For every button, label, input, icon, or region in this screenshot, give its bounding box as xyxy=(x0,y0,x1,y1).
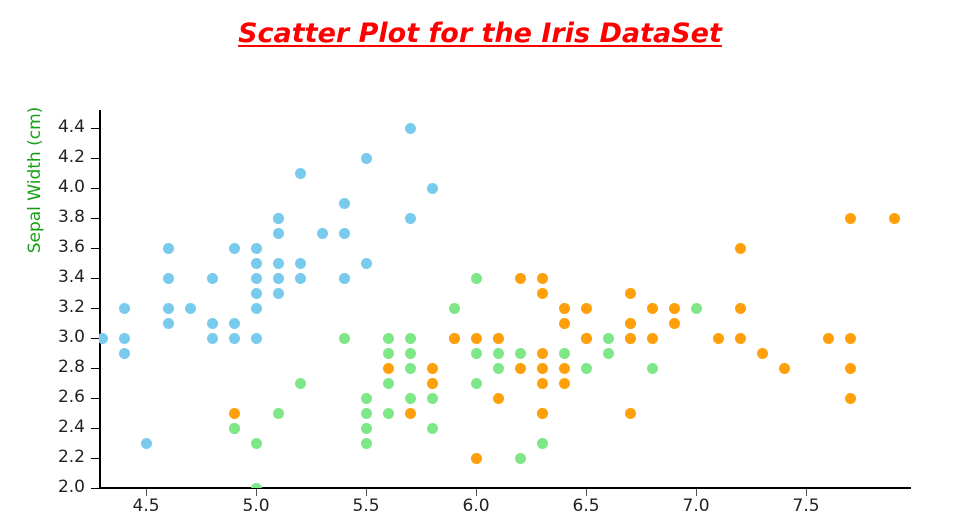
data-point-versicolor xyxy=(515,348,526,359)
data-point-virginica xyxy=(405,408,416,419)
data-point-setosa xyxy=(229,333,240,344)
y-tick-label-wrap: 4.0 xyxy=(30,177,85,197)
x-tick-mark xyxy=(146,489,147,496)
y-tick-label: 2.4 xyxy=(39,417,85,437)
y-tick-label: 4.2 xyxy=(39,147,85,167)
data-point-versicolor xyxy=(405,333,416,344)
data-point-setosa xyxy=(207,273,218,284)
data-point-virginica xyxy=(537,408,548,419)
y-tick-mark xyxy=(91,188,99,189)
data-point-setosa xyxy=(405,123,416,134)
y-tick-mark xyxy=(91,338,99,339)
data-point-virginica xyxy=(471,333,482,344)
data-point-versicolor xyxy=(427,423,438,434)
data-point-virginica xyxy=(537,273,548,284)
y-tick-label: 2.2 xyxy=(39,447,85,467)
data-point-setosa xyxy=(273,228,284,239)
y-tick-label: 4.4 xyxy=(39,117,85,137)
data-point-versicolor xyxy=(603,348,614,359)
data-point-versicolor xyxy=(581,363,592,374)
data-point-setosa xyxy=(119,348,130,359)
data-point-setosa xyxy=(361,258,372,269)
scatter-plot-figure: Scatter Plot for the Iris DataSet Sepal … xyxy=(0,0,960,500)
data-point-virginica xyxy=(823,333,834,344)
data-point-virginica xyxy=(735,303,746,314)
data-point-versicolor xyxy=(427,393,438,404)
data-point-virginica xyxy=(559,363,570,374)
data-point-virginica xyxy=(647,333,658,344)
data-point-versicolor xyxy=(493,363,504,374)
data-point-versicolor xyxy=(471,378,482,389)
y-tick-label: 3.4 xyxy=(39,267,85,287)
data-point-versicolor xyxy=(471,348,482,359)
data-point-virginica xyxy=(735,333,746,344)
data-point-setosa xyxy=(427,183,438,194)
data-point-virginica xyxy=(845,363,856,374)
data-point-setosa xyxy=(295,273,306,284)
data-point-virginica xyxy=(845,213,856,224)
data-point-virginica xyxy=(537,363,548,374)
data-point-setosa xyxy=(119,333,130,344)
y-tick-label: 2.0 xyxy=(39,477,85,497)
data-point-virginica xyxy=(515,273,526,284)
y-tick-label-wrap: 2.0 xyxy=(30,477,85,497)
data-point-virginica xyxy=(559,303,570,314)
data-point-setosa xyxy=(251,258,262,269)
x-tick-mark xyxy=(696,489,697,496)
y-tick-label-wrap: 3.0 xyxy=(30,327,85,347)
y-tick-mark xyxy=(91,218,99,219)
data-point-virginica xyxy=(229,408,240,419)
data-point-virginica xyxy=(537,288,548,299)
data-point-versicolor xyxy=(251,483,262,489)
x-tick-mark xyxy=(806,489,807,496)
y-tick-mark xyxy=(91,428,99,429)
plot-area xyxy=(99,110,911,488)
data-point-versicolor xyxy=(361,408,372,419)
data-point-setosa xyxy=(207,318,218,329)
data-point-virginica xyxy=(779,363,790,374)
data-point-versicolor xyxy=(691,303,702,314)
data-point-setosa xyxy=(273,273,284,284)
data-point-setosa xyxy=(405,213,416,224)
data-point-virginica xyxy=(559,378,570,389)
data-point-virginica xyxy=(735,243,746,254)
data-point-setosa xyxy=(163,273,174,284)
data-point-setosa xyxy=(185,303,196,314)
data-point-setosa xyxy=(229,243,240,254)
data-point-virginica xyxy=(383,363,394,374)
y-tick-label-wrap: 2.4 xyxy=(30,417,85,437)
data-point-virginica xyxy=(669,318,680,329)
y-tick-mark xyxy=(91,308,99,309)
data-point-virginica xyxy=(669,303,680,314)
y-tick-label-wrap: 3.8 xyxy=(30,207,85,227)
data-point-setosa xyxy=(251,303,262,314)
data-point-virginica xyxy=(625,288,636,299)
y-tick-label: 2.6 xyxy=(39,387,85,407)
data-point-setosa xyxy=(251,333,262,344)
data-point-virginica xyxy=(427,363,438,374)
data-point-versicolor xyxy=(537,438,548,449)
data-point-setosa xyxy=(141,438,152,449)
y-tick-label-wrap: 4.2 xyxy=(30,147,85,167)
data-point-setosa xyxy=(339,198,350,209)
x-tick-label: 7.5 xyxy=(776,496,836,516)
data-point-setosa xyxy=(273,288,284,299)
y-tick-mark xyxy=(91,368,99,369)
data-point-virginica xyxy=(515,363,526,374)
x-tick-mark xyxy=(476,489,477,496)
data-point-versicolor xyxy=(361,423,372,434)
y-tick-label: 3.8 xyxy=(39,207,85,227)
data-point-versicolor xyxy=(295,378,306,389)
y-tick-label: 3.0 xyxy=(39,327,85,347)
x-tick-label: 6.5 xyxy=(556,496,616,516)
data-point-versicolor xyxy=(405,348,416,359)
x-tick-label: 4.5 xyxy=(116,496,176,516)
y-tick-label-wrap: 2.8 xyxy=(30,357,85,377)
data-point-versicolor xyxy=(383,348,394,359)
data-point-versicolor xyxy=(559,348,570,359)
data-point-virginica xyxy=(537,348,548,359)
data-point-virginica xyxy=(625,333,636,344)
x-tick-label: 5.0 xyxy=(226,496,286,516)
y-tick-label: 3.2 xyxy=(39,297,85,317)
y-tick-label: 3.6 xyxy=(39,237,85,257)
y-tick-label-wrap: 3.6 xyxy=(30,237,85,257)
data-point-virginica xyxy=(581,333,592,344)
data-point-versicolor xyxy=(251,438,262,449)
data-point-virginica xyxy=(559,318,570,329)
data-point-versicolor xyxy=(273,408,284,419)
y-tick-mark xyxy=(91,458,99,459)
y-tick-label-wrap: 4.4 xyxy=(30,117,85,137)
data-point-versicolor xyxy=(361,393,372,404)
y-tick-label: 4.0 xyxy=(39,177,85,197)
y-tick-mark xyxy=(91,278,99,279)
data-point-virginica xyxy=(537,378,548,389)
data-point-setosa xyxy=(317,228,328,239)
data-point-versicolor xyxy=(449,303,460,314)
page-title: Scatter Plot for the Iris DataSet xyxy=(0,18,960,49)
data-point-setosa xyxy=(99,333,108,344)
data-point-versicolor xyxy=(647,363,658,374)
data-point-virginica xyxy=(845,393,856,404)
data-point-virginica xyxy=(757,348,768,359)
data-point-versicolor xyxy=(383,408,394,419)
data-point-setosa xyxy=(251,243,262,254)
data-point-versicolor xyxy=(405,363,416,374)
y-tick-mark xyxy=(91,248,99,249)
y-tick-label: 2.8 xyxy=(39,357,85,377)
data-point-versicolor xyxy=(339,333,350,344)
y-tick-label-wrap: 3.2 xyxy=(30,297,85,317)
data-point-setosa xyxy=(339,273,350,284)
y-tick-label-wrap: 2.6 xyxy=(30,387,85,407)
data-point-virginica xyxy=(625,408,636,419)
data-point-setosa xyxy=(163,243,174,254)
y-tick-mark xyxy=(91,488,99,489)
data-point-versicolor xyxy=(515,453,526,464)
data-point-versicolor xyxy=(603,333,614,344)
data-point-versicolor xyxy=(361,438,372,449)
data-point-virginica xyxy=(471,453,482,464)
data-point-virginica xyxy=(713,333,724,344)
x-tick-mark xyxy=(586,489,587,496)
y-tick-mark xyxy=(91,158,99,159)
data-point-virginica xyxy=(449,333,460,344)
x-tick-label: 5.5 xyxy=(336,496,396,516)
data-point-setosa xyxy=(273,258,284,269)
data-point-virginica xyxy=(889,213,900,224)
x-tick-label: 7.0 xyxy=(666,496,726,516)
x-tick-mark xyxy=(366,489,367,496)
data-point-virginica xyxy=(647,303,658,314)
data-point-setosa xyxy=(339,228,350,239)
data-point-versicolor xyxy=(383,378,394,389)
x-tick-label: 6.0 xyxy=(446,496,506,516)
x-tick-mark xyxy=(256,489,257,496)
data-point-setosa xyxy=(295,168,306,179)
data-point-setosa xyxy=(361,153,372,164)
y-tick-label-wrap: 3.4 xyxy=(30,267,85,287)
y-tick-mark xyxy=(91,128,99,129)
y-tick-label-wrap: 2.2 xyxy=(30,447,85,467)
data-point-setosa xyxy=(251,288,262,299)
data-point-setosa xyxy=(295,258,306,269)
data-point-setosa xyxy=(207,333,218,344)
data-point-versicolor xyxy=(493,348,504,359)
data-point-virginica xyxy=(427,378,438,389)
data-point-versicolor xyxy=(229,423,240,434)
data-point-versicolor xyxy=(405,393,416,404)
y-tick-mark xyxy=(91,398,99,399)
data-point-setosa xyxy=(251,273,262,284)
data-point-setosa xyxy=(163,318,174,329)
data-point-versicolor xyxy=(383,333,394,344)
data-point-virginica xyxy=(493,393,504,404)
data-point-virginica xyxy=(493,333,504,344)
data-point-virginica xyxy=(625,318,636,329)
data-point-setosa xyxy=(119,303,130,314)
data-point-virginica xyxy=(845,333,856,344)
data-point-versicolor xyxy=(471,273,482,284)
data-point-setosa xyxy=(163,303,174,314)
data-point-setosa xyxy=(229,318,240,329)
data-point-setosa xyxy=(273,213,284,224)
data-point-virginica xyxy=(581,303,592,314)
